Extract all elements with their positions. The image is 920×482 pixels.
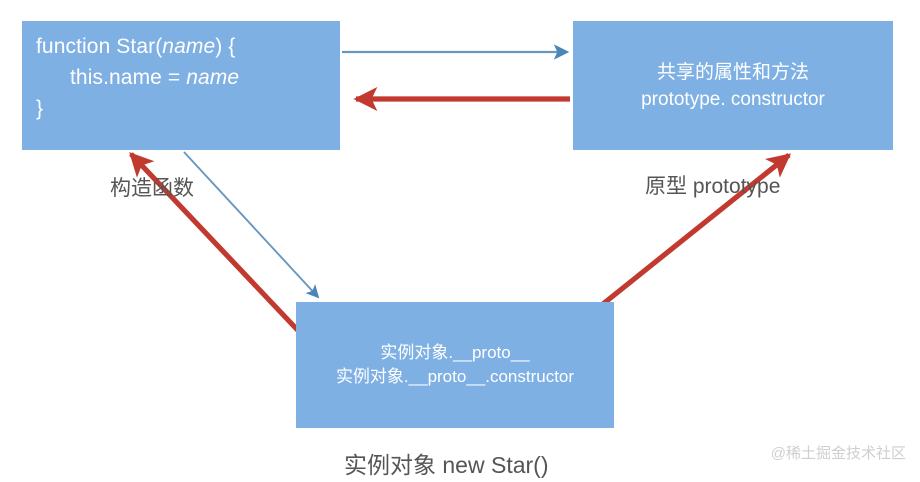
instance-line-1: 实例对象.__proto__ [380,341,529,365]
prototype-line-2: prototype. constructor [641,86,825,113]
constructor-code-line-1: function Star(name) { [36,31,235,62]
constructor-code-1-plain: function Star( [36,35,162,58]
prototype-caption: 原型 prototype [645,170,780,200]
constructor-code-2-italic: name [186,66,239,89]
constructor-code-1-tail: ) { [215,35,235,58]
instance-line-2: 实例对象.__proto__.constructor [336,365,574,389]
constructor-code-line-3: } [36,93,43,124]
constructor-caption: 构造函数 [110,172,194,202]
watermark: @稀土掘金技术社区 [771,442,906,463]
constructor-box: function Star(name) { this.name = name } [22,21,340,150]
prototype-line-1: 共享的属性和方法 [657,59,809,86]
instance-box: 实例对象.__proto__ 实例对象.__proto__.constructo… [296,302,614,428]
instance-caption: 实例对象 new Star() [344,446,548,480]
diagram-canvas: function Star(name) { this.name = name }… [0,0,920,482]
constructor-code-1-italic: name [162,35,215,58]
arrow-constructor-to-instance [184,152,318,297]
constructor-code-2-plain: this.name = [70,66,186,89]
constructor-code-line-2: this.name = name [36,62,239,93]
prototype-box: 共享的属性和方法 prototype. constructor [573,21,893,150]
